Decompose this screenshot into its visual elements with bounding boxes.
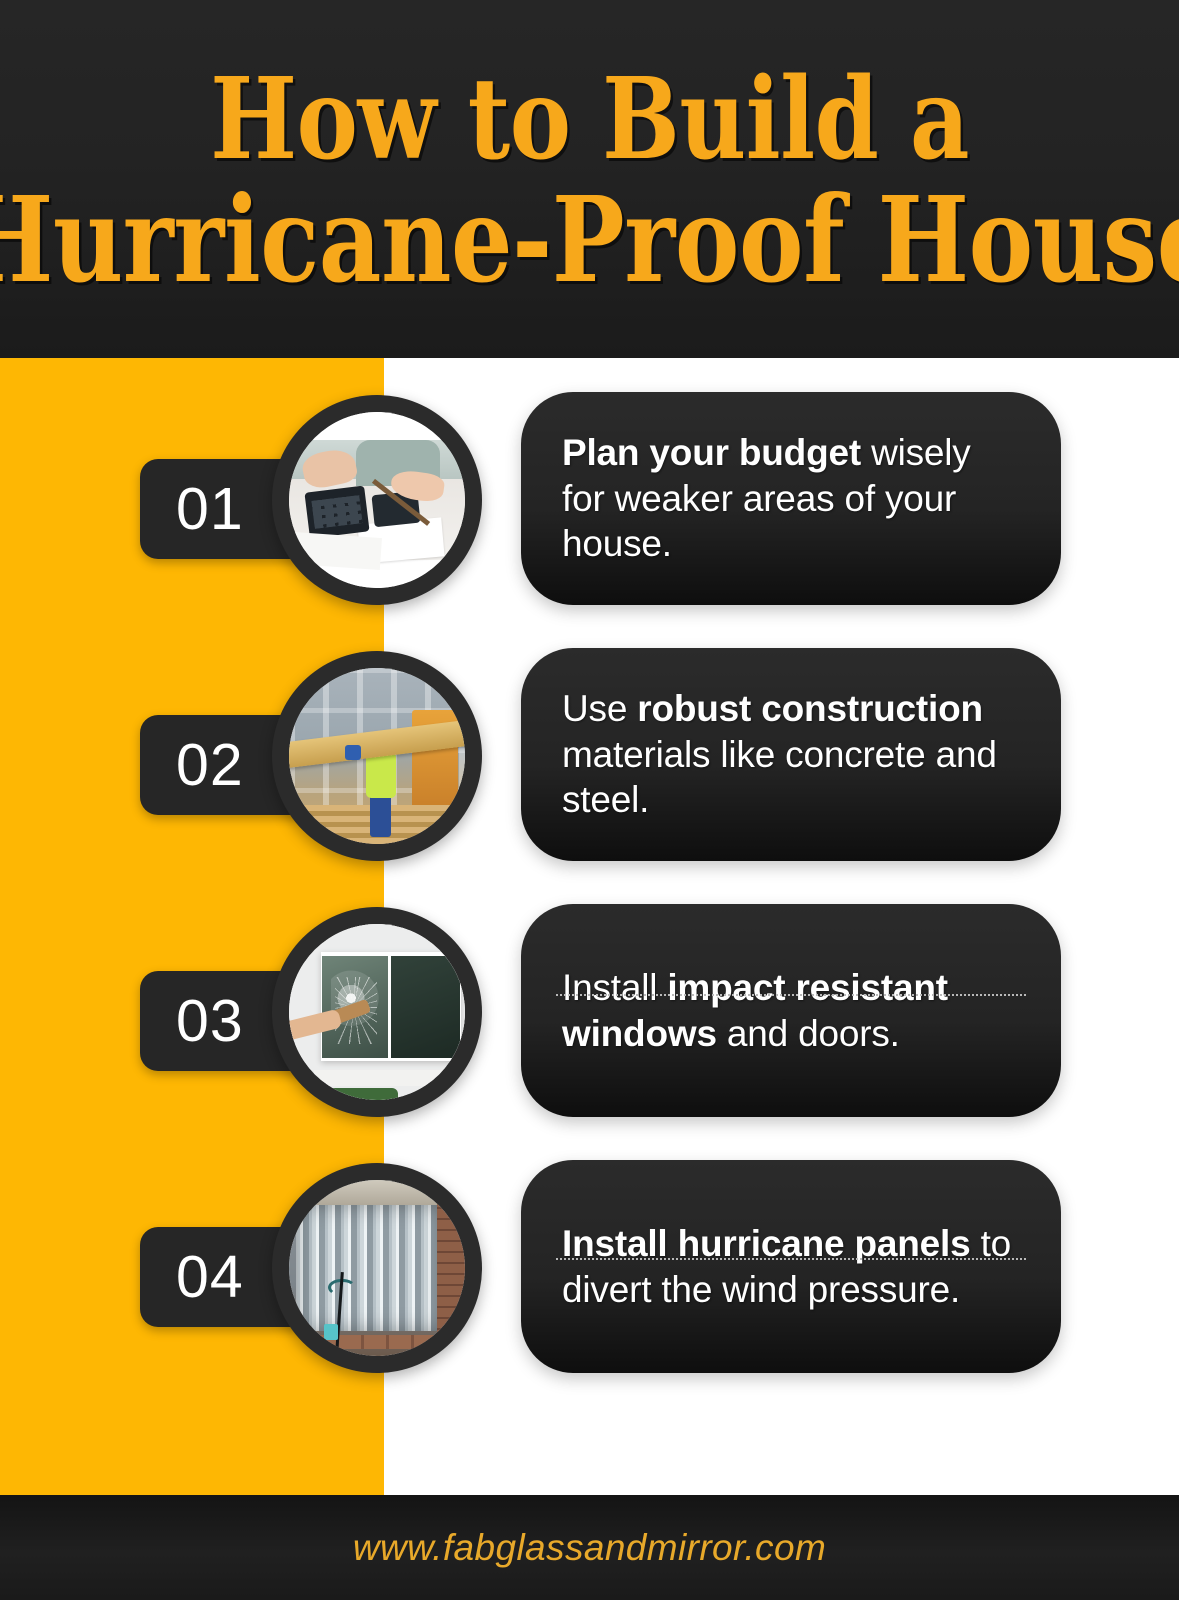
step-number-label-03: 03 [176,992,244,1051]
step-text-card-04: Install hurricane panels to divert the w… [521,1160,1061,1373]
step-divider-1 [556,994,1026,996]
step-photo-ring-01 [272,395,482,605]
step-text-bold-02: robust construction [637,688,983,729]
step-text-card-03: Install impact resistant windows and doo… [521,904,1061,1117]
calculator-desk-image [289,412,465,588]
header-banner: How to Build a Hurricane-Proof House [0,0,1179,358]
page-title-line-2: Hurricane-Proof House [0,182,1179,299]
step-number-label-01: 01 [176,480,244,539]
step-number-label-04: 04 [176,1248,244,1307]
step-photo-ring-02 [272,651,482,861]
step-row-02: 02 Use robust construction materials lik… [0,636,1179,894]
construction-worker-image [289,668,465,844]
step-row-04: 04 Install hurricane panels to divert th… [0,1148,1179,1406]
step-text-suffix-03: and doors. [717,1013,900,1054]
step-photo-01 [289,412,465,588]
infographic-poster: How to Build a Hurricane-Proof House 01 [0,0,1179,1600]
step-divider-2 [556,1258,1026,1260]
step-photo-ring-04 [272,1163,482,1373]
content-area: 01 Plan your budget wisely for weaker ar… [0,358,1179,1495]
step-photo-03 [289,924,465,1100]
step-text-prefix-03: Install [562,967,667,1008]
footer-banner: www.fabglassandmirror.com [0,1495,1179,1600]
step-text-card-02: Use robust construction materials like c… [521,648,1061,861]
step-row-01: 01 Plan your budget wisely for weaker ar… [0,380,1179,638]
step-photo-02 [289,668,465,844]
step-photo-04 [289,1180,465,1356]
step-text-card-01: Plan your budget wisely for weaker areas… [521,392,1061,605]
website-url[interactable]: www.fabglassandmirror.com [353,1527,826,1569]
step-text-suffix-02: materials like concrete and steel. [562,734,997,821]
impact-window-image [289,924,465,1100]
step-text-prefix-02: Use [562,688,637,729]
page-title-line-1: How to Build a [210,65,969,176]
step-row-03: 03 Install impact resistant windows and … [0,892,1179,1150]
hurricane-panels-image [289,1180,465,1356]
step-number-label-02: 02 [176,736,244,795]
step-text-bold-01: Plan your budget [562,432,861,473]
step-photo-ring-03 [272,907,482,1117]
